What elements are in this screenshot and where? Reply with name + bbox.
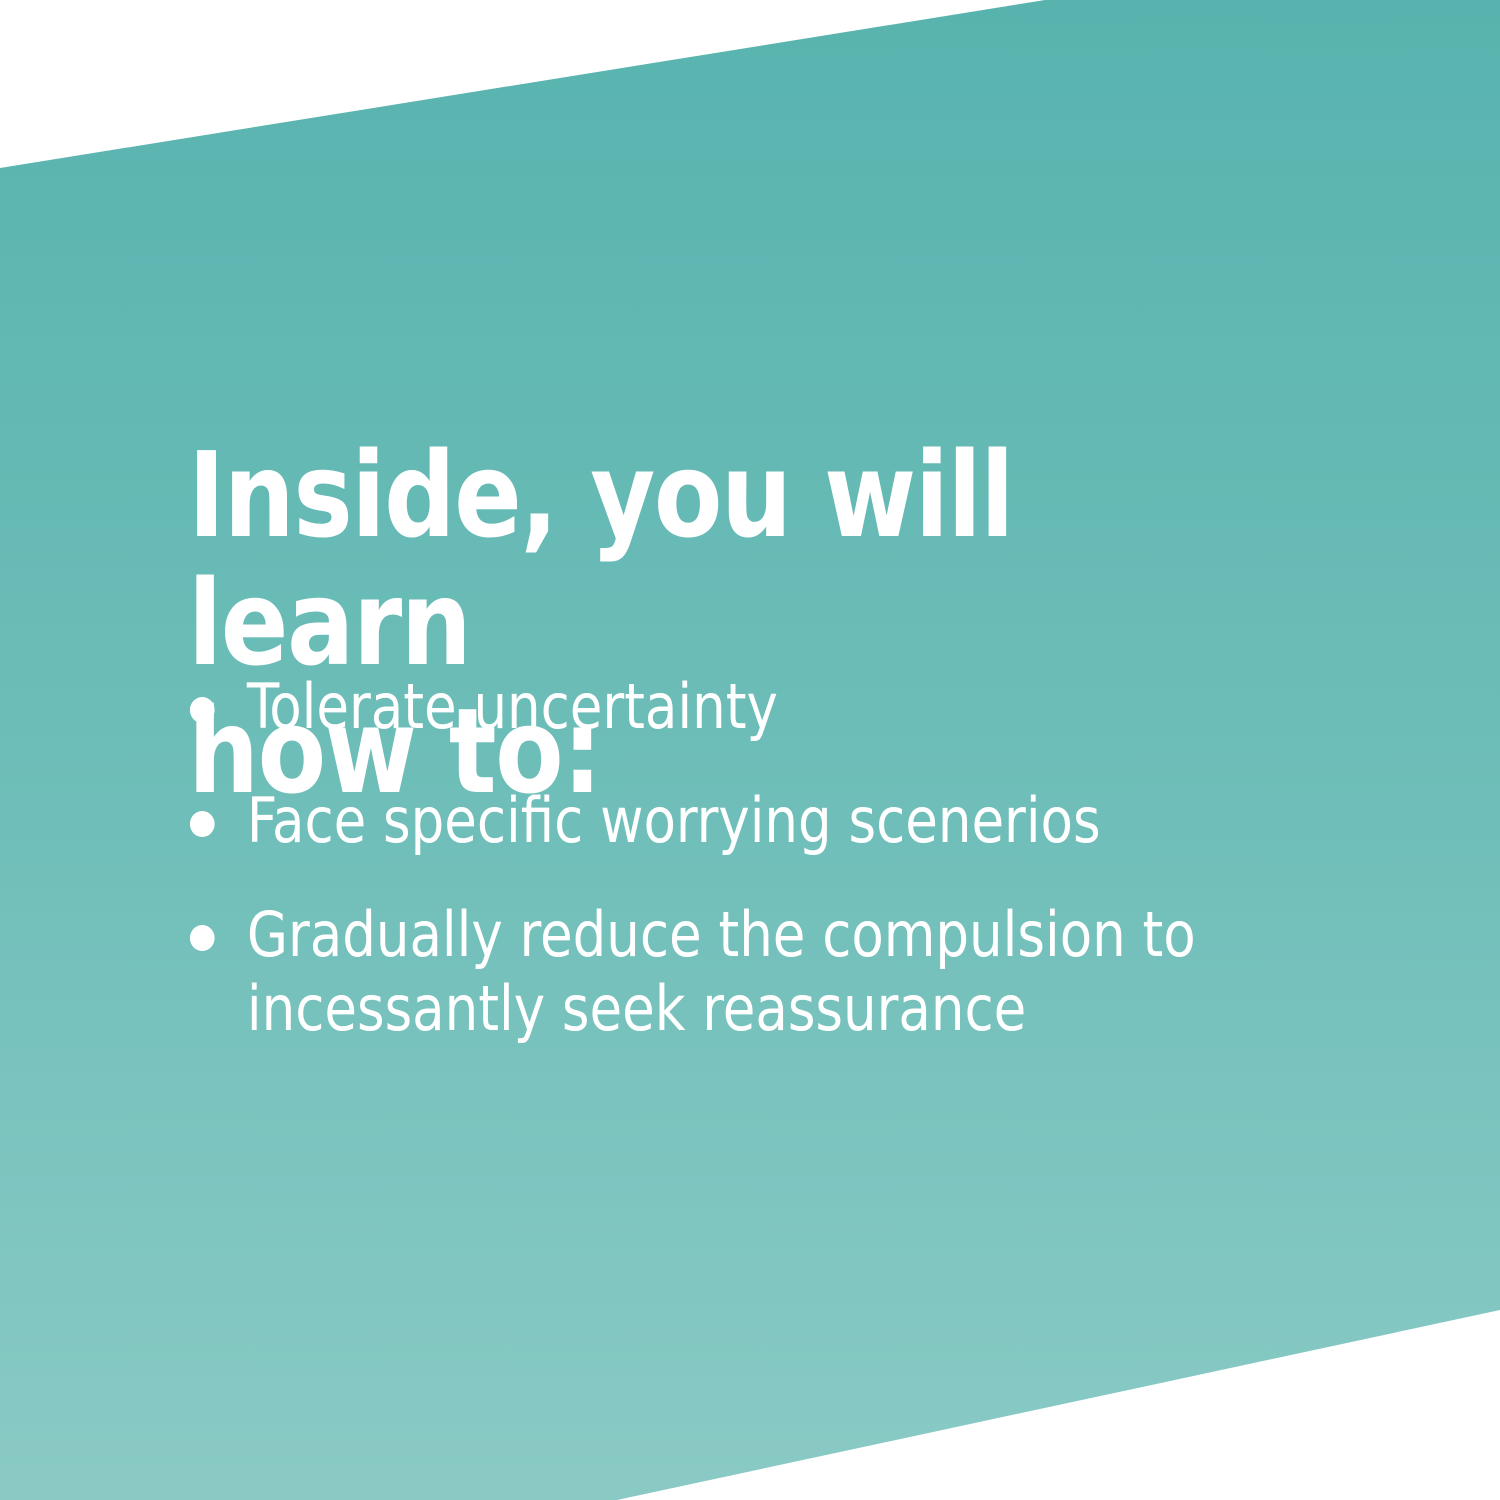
list-item: Tolerate uncertainty	[188, 670, 1366, 744]
list-item: Gradually reduce the compulsion to inces…	[188, 898, 1366, 1046]
benefits-list: Tolerate uncertainty Face specific worry…	[188, 670, 1428, 1046]
list-item-label: Tolerate uncertainty	[247, 670, 1366, 744]
list-item: Face specific worrying scenerios	[188, 784, 1366, 858]
promo-banner-canvas: Inside, you will learn how to: Tolerate …	[0, 0, 1500, 1500]
bullet-dot-icon	[190, 811, 215, 837]
bullet-dot-icon	[190, 925, 215, 951]
banner-content: Inside, you will learn how to: Tolerate …	[0, 0, 1500, 1500]
bullet-dot-icon	[190, 697, 215, 723]
list-item-label: Gradually reduce the compulsion to inces…	[247, 898, 1366, 1046]
list-item-label: Face specific worrying scenerios	[247, 784, 1366, 858]
